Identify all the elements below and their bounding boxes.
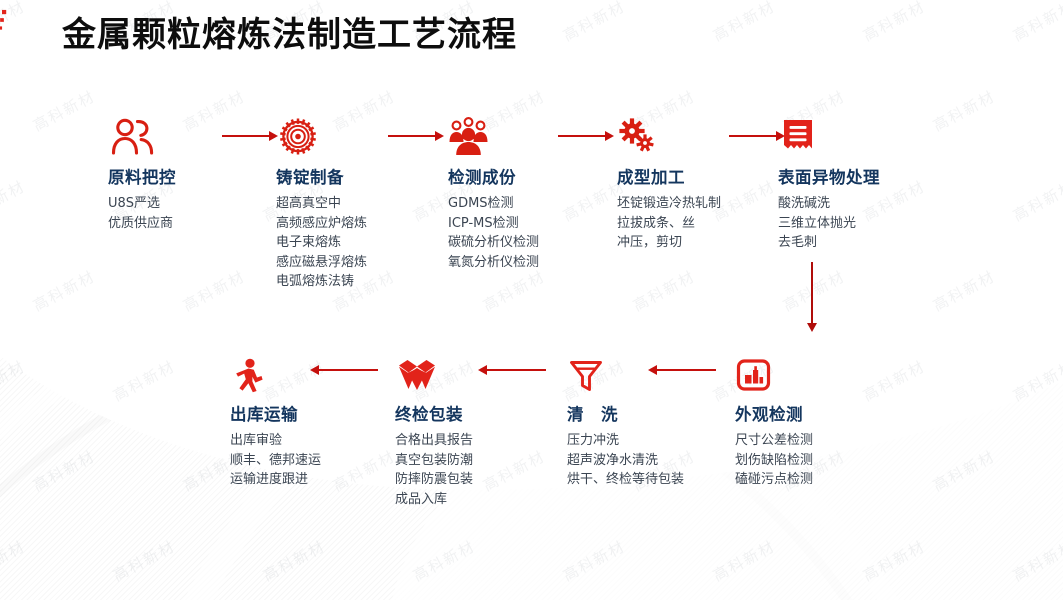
users-icon [108,115,176,157]
flow-step-raw-material-control[interactable]: 原料把控 U8S严选优质供应商 [108,115,176,233]
flow-step-item: U8S严选 [108,194,176,214]
arrow-step2-to-step3 [388,131,444,141]
flow-step-title: 表面异物处理 [778,164,880,188]
flow-step-composition-testing[interactable]: 检测成份 GDMS检测ICP-MS检测碳硫分析仪检测氧氮分析仪检测 [448,115,539,272]
flow-step-item: 顺丰、德邦速运 [230,451,321,471]
flow-step-item: 超声波净水清洗 [567,451,685,471]
flow-step-item: 运输进度跟进 [230,470,321,490]
flow-step-item: 出库审验 [230,431,321,451]
flow-step-title: 清 洗 [567,401,687,425]
people-group-icon [448,115,539,157]
flow-step-item: 电子束熔炼 [276,233,367,253]
flow-step-title: 原料把控 [108,164,176,188]
open-box-icon [395,352,473,394]
flow-step-title: 终检包装 [395,401,473,425]
flow-step-title: 检测成份 [448,164,539,188]
flow-step-item: 去毛刺 [778,233,880,253]
flow-step-item: 三维立体抛光 [778,214,880,234]
flow-step-item: 优质供应商 [108,214,176,234]
arrow-step3-to-step4 [558,131,614,141]
flow-step-title: 成型加工 [617,164,721,188]
flow-step-items: 酸洗碱洗三维立体抛光去毛刺 [778,194,880,253]
flow-step-cleaning[interactable]: 清 洗 压力冲洗超声波净水清洗烘干、终检等待包装 [567,352,687,490]
arrow-step5-to-step6 [807,262,817,332]
flow-step-item: 坯锭锻造冷热轧制 [617,194,721,214]
flow-step-item: 成品入库 [395,490,473,510]
process-flow-diagram: 原料把控 U8S严选优质供应商 铸锭制备 超高真空中高频感应炉熔炼电子束熔炼感应… [0,0,1063,600]
flow-step-item: 碳硫分析仪检测 [448,233,539,253]
walking-person-icon [230,352,321,394]
flow-step-items: GDMS检测ICP-MS检测碳硫分析仪检测氧氮分析仪检测 [448,194,539,272]
arrow-step4-to-step5 [729,131,785,141]
flow-step-item: 真空包装防潮 [395,451,473,471]
flow-step-item: 氧氮分析仪检测 [448,253,539,273]
flow-step-item: 划伤缺陷检测 [735,451,813,471]
arrow-step1-to-step2 [222,131,278,141]
gear-concentric-icon [276,115,367,157]
flow-step-item: 感应磁悬浮熔炼 [276,253,367,273]
flow-step-item: 尺寸公差检测 [735,431,813,451]
flow-step-item: 拉拔成条、丝 [617,214,721,234]
flow-step-title: 铸锭制备 [276,164,367,188]
flow-step-items: 尺寸公差检测划伤缺陷检测磕碰污点检测 [735,431,813,490]
flow-step-items: 超高真空中高频感应炉熔炼电子束熔炼感应磁悬浮熔炼电弧熔炼法铸 [276,194,367,292]
flow-step-item: 磕碰污点检测 [735,470,813,490]
flow-step-item: 合格出具报告 [395,431,473,451]
flow-step-item: GDMS检测 [448,194,539,214]
flow-step-item: 高频感应炉熔炼 [276,214,367,234]
inspection-box-icon [735,352,813,394]
flow-step-final-inspection-packaging[interactable]: 终检包装 合格出具报告真空包装防潮防摔防震包装成品入库 [395,352,473,509]
flow-step-item: 压力冲洗 [567,431,685,451]
flow-step-items: 压力冲洗超声波净水清洗烘干、终检等待包装 [567,431,685,490]
flow-step-outbound-shipping[interactable]: 出库运输 出库审验顺丰、德邦速运运输进度跟进 [230,352,321,490]
flow-step-item: 冲压，剪切 [617,233,721,253]
flow-step-appearance-inspection[interactable]: 外观检测 尺寸公差检测划伤缺陷检测磕碰污点检测 [735,352,813,490]
flow-step-items: 出库审验顺丰、德邦速运运输进度跟进 [230,431,321,490]
flow-step-item: 防摔防震包装 [395,470,473,490]
document-lines-icon [778,115,880,157]
flow-step-item: 电弧熔炼法铸 [276,272,367,292]
flow-step-item: 超高真空中 [276,194,367,214]
flow-step-item: ICP-MS检测 [448,214,539,234]
double-gear-icon [617,115,721,157]
flow-step-title: 出库运输 [230,401,321,425]
arrow-step7-to-step8 [478,365,546,375]
flow-step-ingot-preparation[interactable]: 铸锭制备 超高真空中高频感应炉熔炼电子束熔炼感应磁悬浮熔炼电弧熔炼法铸 [276,115,367,292]
flow-step-items: U8S严选优质供应商 [108,194,176,233]
flow-step-forming-processing[interactable]: 成型加工 坯锭锻造冷热轧制拉拔成条、丝冲压，剪切 [617,115,721,253]
flow-step-item: 酸洗碱洗 [778,194,880,214]
funnel-icon [567,352,687,394]
flow-step-title: 外观检测 [735,401,813,425]
flow-step-item: 烘干、终检等待包装 [567,470,685,490]
flow-step-items: 坯锭锻造冷热轧制拉拔成条、丝冲压，剪切 [617,194,721,253]
flow-step-items: 合格出具报告真空包装防潮防摔防震包装成品入库 [395,431,473,509]
flow-step-surface-treatment[interactable]: 表面异物处理 酸洗碱洗三维立体抛光去毛刺 [778,115,880,253]
